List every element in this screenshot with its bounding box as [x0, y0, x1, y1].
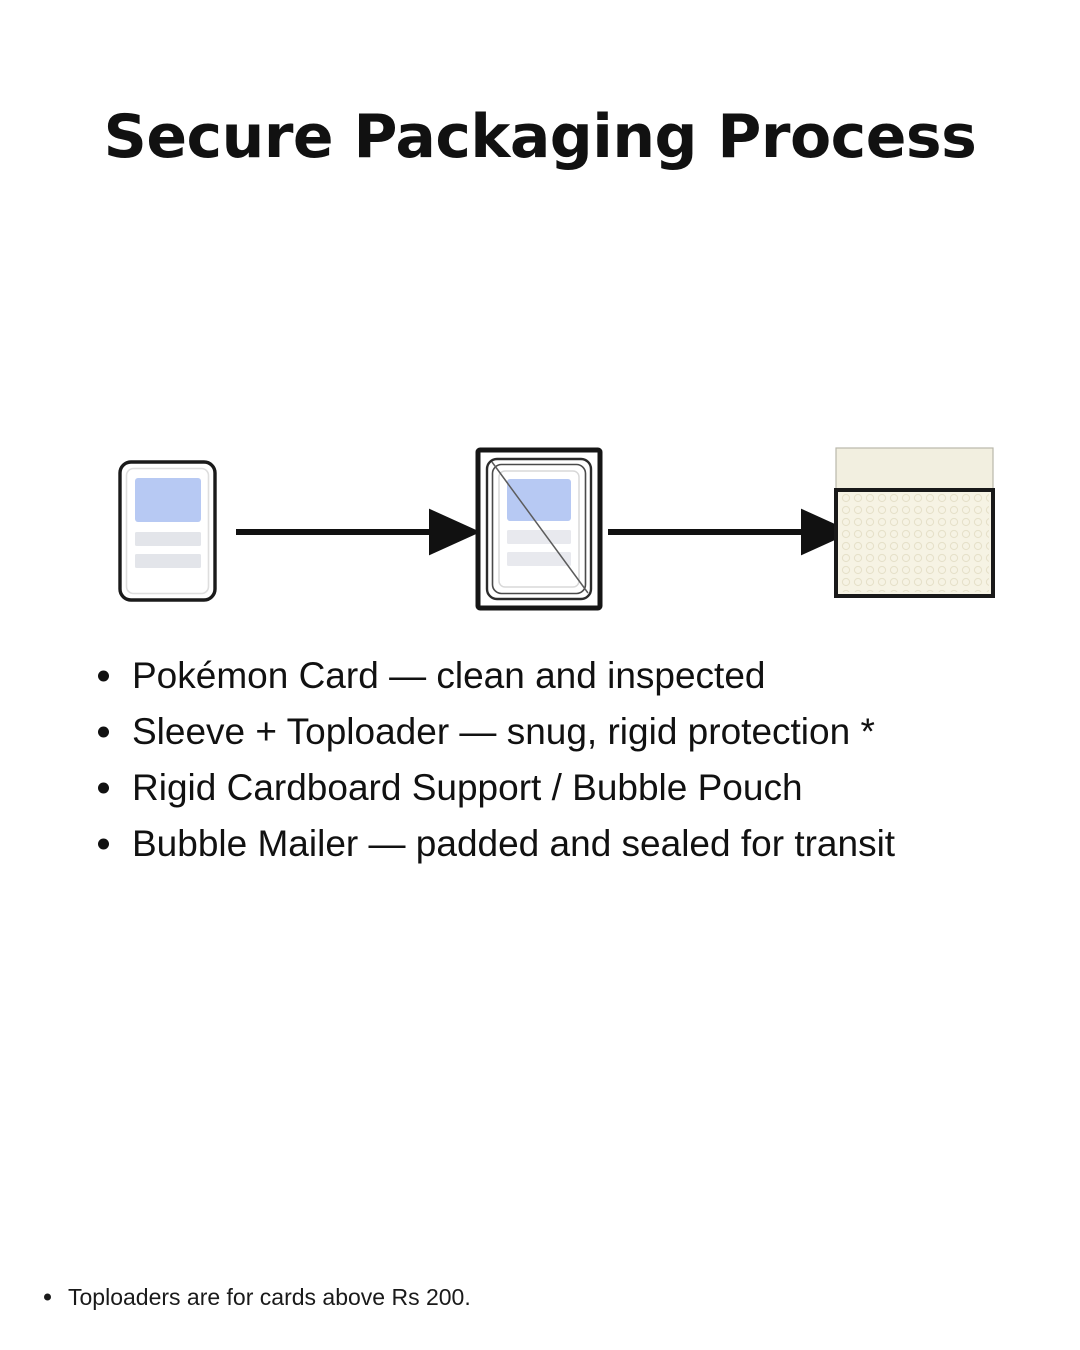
packaging-steps-list: Pokémon Card — clean and inspected Sleev… [88, 648, 1048, 872]
footnote-list: Toploaders are for cards above Rs 200. [36, 1281, 736, 1313]
bullet-dot-icon [44, 1294, 51, 1301]
list-item: Pokémon Card — clean and inspected [88, 648, 1048, 704]
bullet-dot-icon [98, 671, 109, 682]
bullet-dot-icon [98, 727, 109, 738]
packaging-flow-diagram [0, 430, 1080, 630]
page-title: Secure Packaging Process [0, 104, 1080, 170]
bullet-dot-icon [98, 839, 109, 850]
bubble-mailer-icon [836, 448, 993, 596]
sleeved-toploader-icon [478, 450, 600, 608]
footnote-label: Toploaders are for cards above Rs 200. [68, 1284, 471, 1310]
list-item: Bubble Mailer — padded and sealed for tr… [88, 816, 1048, 872]
list-item-label: Sleeve + Toploader — snug, rigid protect… [132, 711, 875, 752]
list-item-label: Rigid Cardboard Support / Bubble Pouch [132, 767, 803, 808]
list-item-label: Pokémon Card — clean and inspected [132, 655, 765, 696]
list-item-label: Bubble Mailer — padded and sealed for tr… [132, 823, 895, 864]
list-item: Rigid Cardboard Support / Bubble Pouch [88, 760, 1048, 816]
list-item: Sleeve + Toploader — snug, rigid protect… [88, 704, 1048, 760]
footnote-item: Toploaders are for cards above Rs 200. [36, 1281, 736, 1313]
bullet-dot-icon [98, 783, 109, 794]
pokemon-card-icon [120, 462, 215, 600]
